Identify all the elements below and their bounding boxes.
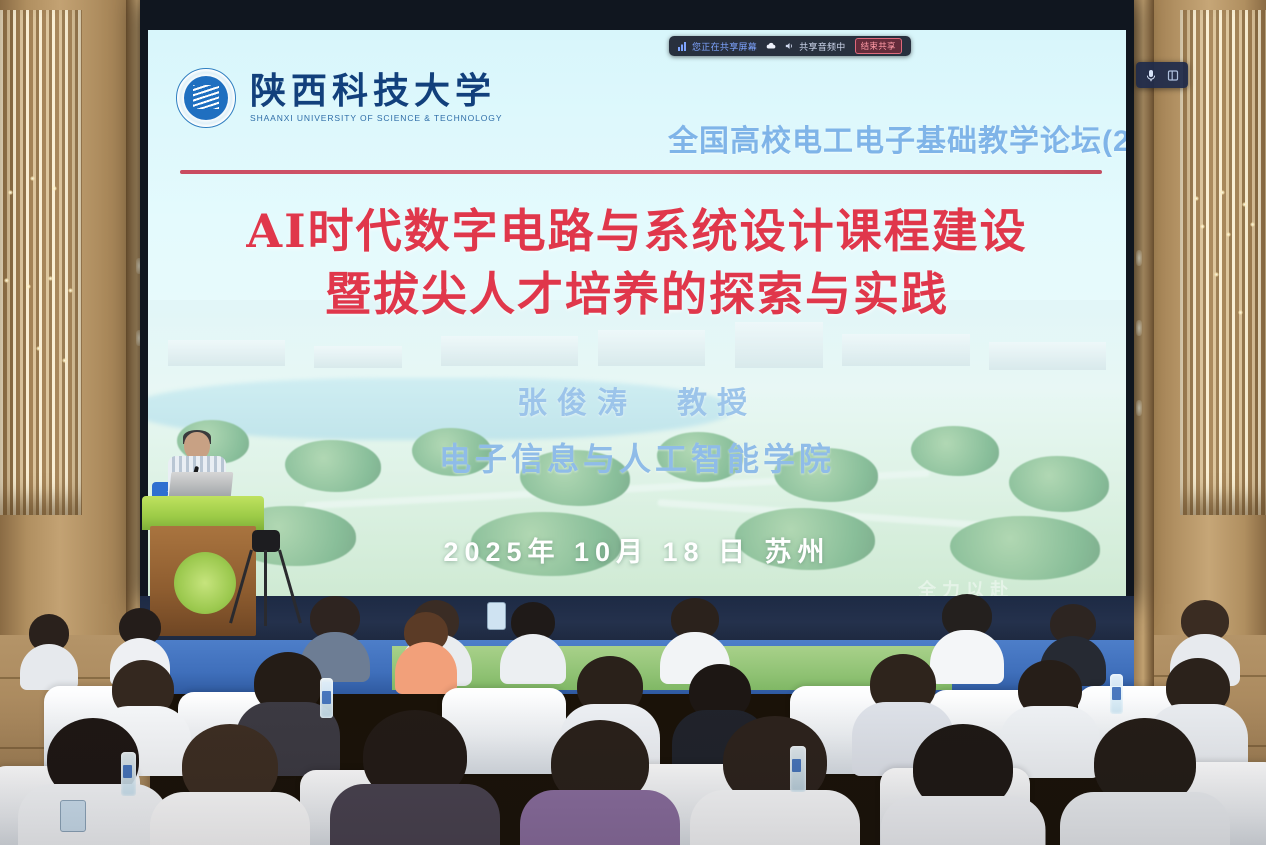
screen-share-toolbar[interactable]: 您正在共享屏幕 共享音频中 结束共享 [669,36,911,56]
audience-person [1060,718,1230,845]
university-seal-icon [176,68,236,128]
water-bottle [1110,674,1123,714]
smartphone [60,800,86,832]
audience-person [500,602,566,676]
water-bottle [121,752,136,796]
slide-main-title: AI时代数字电路与系统设计课程建设 暨拔尖人才培养的探索与实践 [148,200,1126,327]
conference-hall-photo: 陕西科技大学 SHAANXI UNIVERSITY OF SCIENCE & T… [0,0,1266,845]
microphone-icon[interactable] [1145,69,1157,82]
audience-person [150,724,310,845]
share-status: 您正在共享屏幕 [678,40,757,53]
panel-icon[interactable] [1167,69,1179,82]
audience-person [690,716,860,845]
signal-icon [678,41,688,51]
cloud-icon[interactable] [766,41,776,51]
audience-person-photographing [395,610,457,682]
meeting-mini-control[interactable] [1136,62,1188,88]
title-line-2: 暨拔尖人才培养的探索与实践 [148,263,1126,326]
share-status-text: 您正在共享屏幕 [692,40,757,53]
wall-panel-left [0,10,82,515]
university-name-en: SHAANXI UNIVERSITY OF SCIENCE & TECHNOLO… [250,113,502,123]
water-bottle [790,746,806,792]
header-divider [180,170,1102,174]
forum-title: 全国高校电工电子基础教学论坛(2025) [668,116,1126,160]
date-and-location: 2025年 10月 18 日 苏州 [148,530,1126,569]
seated-audience [0,590,1266,845]
projection-screen: 陕西科技大学 SHAANXI UNIVERSITY OF SCIENCE & T… [140,0,1134,604]
audience-person [880,724,1045,845]
wall-panel-right [1180,10,1266,515]
presenter-name: 张俊涛 教授 [148,378,1126,422]
share-audio-text: 共享音频中 [799,40,846,53]
laptop [169,472,234,498]
share-audio[interactable]: 共享音频中 [785,40,846,53]
audience-person [18,718,168,845]
presenter-affiliation: 电子信息与人工智能学院 [148,434,1126,480]
audience-person [20,614,78,682]
university-name-cn: 陕西科技大学 [250,73,502,109]
end-share-button[interactable]: 结束共享 [855,38,902,54]
audience-person [330,710,500,845]
presentation-slide: 陕西科技大学 SHAANXI UNIVERSITY OF SCIENCE & T… [148,30,1126,600]
speaker-icon [785,41,795,51]
audience-person [520,720,680,845]
title-line-1: AI时代数字电路与系统设计课程建设 [246,204,1027,258]
university-logo: 陕西科技大学 SHAANXI UNIVERSITY OF SCIENCE & T… [176,68,502,128]
smartphone [487,602,506,630]
